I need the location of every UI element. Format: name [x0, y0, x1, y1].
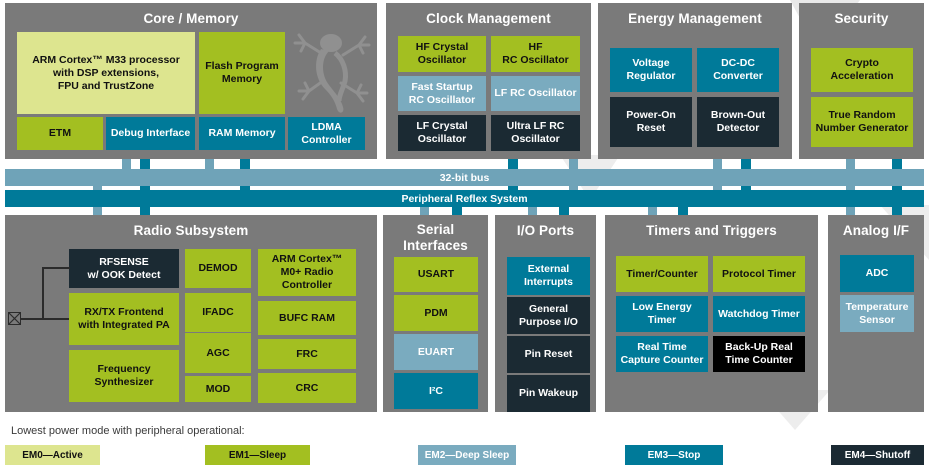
- panel-title-io-ports: I/O Ports: [495, 223, 596, 239]
- block-crc[interactable]: CRC: [258, 373, 356, 403]
- block-etm[interactable]: ETM: [17, 117, 103, 150]
- block-demod[interactable]: DEMOD: [185, 249, 251, 288]
- block-i2c[interactable]: I²C: [394, 373, 478, 409]
- bus-connector-down-7: [648, 207, 657, 215]
- block-fast-startup-rc-oscillator[interactable]: Fast Startup RC Oscillator: [398, 76, 486, 111]
- bus-connector-down-10: [892, 207, 902, 215]
- panel-energy-management: Energy Management Voltage Regulator DC-D…: [598, 3, 792, 159]
- panel-io-ports: I/O Ports External Interrupts General Pu…: [495, 215, 596, 412]
- block-lf-rc-oscillator[interactable]: LF RC Oscillator: [491, 76, 580, 111]
- legend-item-em2: EM2—Deep Sleep: [418, 445, 516, 465]
- panel-timers-and-triggers: Timers and Triggers Timer/Counter Protoc…: [605, 215, 818, 412]
- block-temperature-sensor[interactable]: Temperature Sensor: [840, 295, 914, 332]
- panel-title-radio-subsystem: Radio Subsystem: [5, 223, 377, 239]
- legend-item-em3: EM3—Stop: [625, 445, 723, 465]
- legend-caption: Lowest power mode with peripheral operat…: [11, 425, 245, 437]
- block-pdm[interactable]: PDM: [394, 295, 478, 331]
- block-rx-tx-frontend[interactable]: RX/TX Frontend with Integrated PA: [69, 293, 179, 345]
- block-voltage-regulator[interactable]: Voltage Regulator: [610, 48, 692, 92]
- legend-item-em0: EM0—Active: [5, 445, 100, 465]
- legend-item-em1-label: EM1—Sleep: [229, 450, 286, 461]
- block-mod[interactable]: MOD: [185, 376, 251, 402]
- bus-connector-down-6: [559, 207, 569, 215]
- block-crypto-acceleration[interactable]: Crypto Acceleration: [811, 48, 913, 92]
- panel-title-security: Security: [799, 11, 924, 27]
- block-arm-cortex-m0-radio-controller[interactable]: ARM Cortex™ M0+ Radio Controller: [258, 249, 356, 296]
- block-true-random-number-generator[interactable]: True Random Number Generator: [811, 97, 913, 147]
- panel-analog-if: Analog I/F ADC Temperature Sensor: [828, 215, 924, 412]
- block-diagram-canvas: Core / Memory ARM Cortex™ M33 processor …: [0, 0, 929, 473]
- block-hf-crystal-oscillator[interactable]: HF Crystal Oscillator: [398, 36, 486, 72]
- bus-prs-label: Peripheral Reflex System: [401, 193, 527, 205]
- block-ram-memory[interactable]: RAM Memory: [199, 117, 285, 150]
- panel-title-analog-if: Analog I/F: [828, 223, 924, 239]
- block-flash-program-memory[interactable]: Flash Program Memory: [199, 32, 285, 114]
- block-pin-reset[interactable]: Pin Reset: [507, 336, 590, 373]
- antenna-trace-horizontal: [21, 318, 69, 320]
- block-bufc-ram[interactable]: BUFC RAM: [258, 301, 356, 335]
- panel-core-memory: Core / Memory ARM Cortex™ M33 processor …: [5, 3, 377, 159]
- block-ldma-controller[interactable]: LDMA Controller: [288, 117, 365, 150]
- antenna-trace-to-rfsense: [42, 267, 70, 269]
- block-frequency-synthesizer[interactable]: Frequency Synthesizer: [69, 350, 179, 402]
- panel-title-clock-management: Clock Management: [386, 11, 591, 27]
- block-general-purpose-io[interactable]: General Purpose I/O: [507, 297, 590, 334]
- block-dc-dc-converter[interactable]: DC-DC Converter: [697, 48, 779, 92]
- gecko-watermark-icon: [291, 29, 373, 115]
- panel-serial-interfaces: Serial Interfaces USART PDM EUART I²C: [383, 215, 488, 412]
- legend-item-em1: EM1—Sleep: [205, 445, 310, 465]
- block-arm-cortex-m33[interactable]: ARM Cortex™ M33 processor with DSP exten…: [17, 32, 195, 114]
- panel-title-energy-management: Energy Management: [598, 11, 792, 27]
- block-pin-wakeup[interactable]: Pin Wakeup: [507, 375, 590, 412]
- block-power-on-reset[interactable]: Power-On Reset: [610, 97, 692, 147]
- panel-title-serial-interfaces: Serial Interfaces: [383, 222, 488, 254]
- legend-item-em3-label: EM3—Stop: [648, 450, 701, 461]
- block-ifadc[interactable]: IFADC: [185, 293, 251, 332]
- block-backup-real-time-counter[interactable]: Back-Up Real Time Counter: [713, 336, 805, 372]
- block-rfsense[interactable]: RFSENSE w/ OOK Detect: [69, 249, 179, 288]
- bus-peripheral-reflex-system: Peripheral Reflex System: [5, 190, 924, 207]
- legend-item-em0-label: EM0—Active: [22, 450, 83, 461]
- antenna-trace-vertical: [42, 267, 44, 320]
- block-external-interrupts[interactable]: External Interrupts: [507, 257, 590, 295]
- bus-32-bit-label: 32-bit bus: [440, 172, 490, 184]
- block-low-energy-timer[interactable]: Low Energy Timer: [616, 296, 708, 332]
- panel-security: Security Crypto Acceleration True Random…: [799, 3, 924, 159]
- panel-radio-subsystem: Radio Subsystem RFSENSE w/ OOK Detect RX…: [5, 215, 377, 412]
- block-hf-rc-oscillator[interactable]: HF RC Oscillator: [491, 36, 580, 72]
- block-brown-out-detector[interactable]: Brown-Out Detector: [697, 97, 779, 147]
- bus-connector-down-8: [678, 207, 688, 215]
- panel-title-core-memory: Core / Memory: [5, 11, 377, 27]
- antenna-icon: [8, 312, 21, 325]
- block-ultra-lf-rc-oscillator[interactable]: Ultra LF RC Oscillator: [491, 115, 580, 151]
- block-euart[interactable]: EUART: [394, 334, 478, 370]
- block-agc[interactable]: AGC: [185, 333, 251, 373]
- bus-32-bit: 32-bit bus: [5, 169, 924, 186]
- bus-connector-down-5: [528, 207, 537, 215]
- block-real-time-capture-counter[interactable]: Real Time Capture Counter: [616, 336, 708, 372]
- block-lf-crystal-oscillator[interactable]: LF Crystal Oscillator: [398, 115, 486, 151]
- bus-connector-down-4: [452, 207, 462, 215]
- bus-connector-down-9: [846, 207, 855, 215]
- block-adc[interactable]: ADC: [840, 255, 914, 292]
- block-timer-counter[interactable]: Timer/Counter: [616, 256, 708, 292]
- block-frc[interactable]: FRC: [258, 339, 356, 369]
- block-protocol-timer[interactable]: Protocol Timer: [713, 256, 805, 292]
- block-debug-interface[interactable]: Debug Interface: [106, 117, 195, 150]
- legend-item-em2-label: EM2—Deep Sleep: [425, 450, 509, 461]
- block-watchdog-timer[interactable]: Watchdog Timer: [713, 296, 805, 332]
- panel-clock-management: Clock Management HF Crystal Oscillator H…: [386, 3, 591, 159]
- legend-item-em4: EM4—Shutoff: [831, 445, 924, 465]
- bus-connector-down-3: [420, 207, 429, 215]
- bus-connector-down-1: [93, 207, 102, 215]
- block-usart[interactable]: USART: [394, 257, 478, 292]
- bus-connector-down-2: [140, 207, 150, 215]
- legend-item-em4-label: EM4—Shutoff: [845, 450, 911, 461]
- panel-title-timers-and-triggers: Timers and Triggers: [605, 223, 818, 239]
